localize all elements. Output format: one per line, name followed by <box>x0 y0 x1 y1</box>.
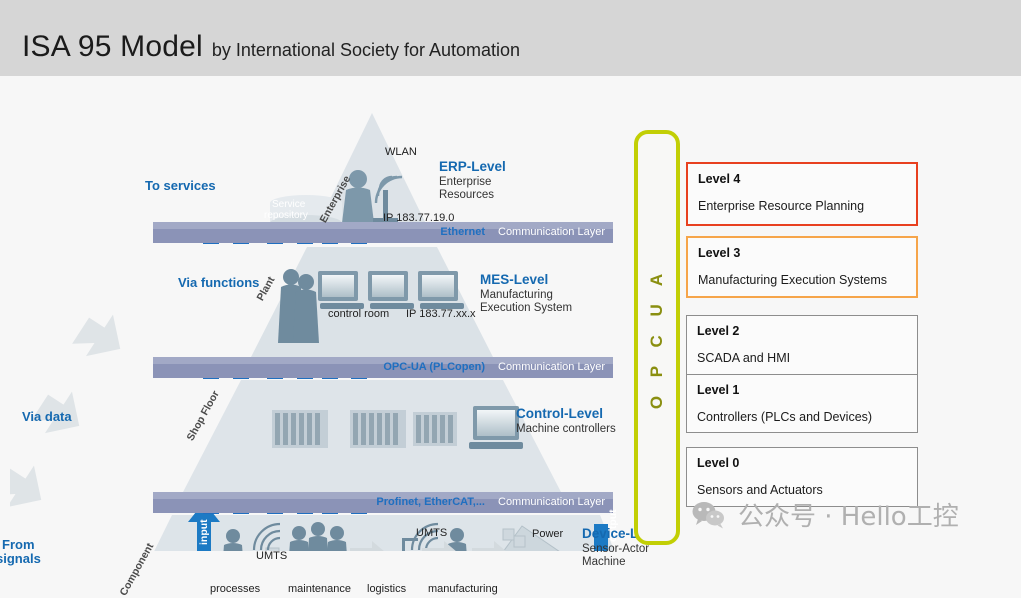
mes-people-shape <box>278 269 319 343</box>
station-label-processes: processes <box>210 583 260 595</box>
slide-body: Ethernet Communication Layer OPC-UA (PLC… <box>0 76 1021 564</box>
level-box-1-text: Controllers (PLCs and Devices) <box>697 410 907 424</box>
level-box-0-title: Level 0 <box>697 456 907 470</box>
opc-ua-vertical-bar: O P C U A <box>634 130 680 545</box>
input-arrow-label: input <box>198 519 210 545</box>
tier-desc-mes-line2: Execution System <box>480 302 572 315</box>
protocol-label-ethernet: Ethernet <box>440 226 485 238</box>
caption-to-services: To services <box>145 178 216 193</box>
mes-monitors-shape <box>318 271 464 309</box>
station-label-power: Power <box>532 528 563 540</box>
wlan-label: WLAN <box>385 146 417 158</box>
tier-desc-mes-line1: Manufacturing <box>480 289 553 302</box>
page-title: ISA 95 Model <box>22 30 203 64</box>
caption-from-signals-line2: signals <box>0 552 41 565</box>
tier-desc-device-line2: Machine <box>582 556 625 569</box>
erp-ip-address-label: IP 183.77.19.0 <box>383 212 454 224</box>
tier-desc-erp-line1: Enterprise <box>439 176 491 189</box>
tier-desc-device-line1: Sensor-Actor <box>582 543 649 556</box>
level-box-2[interactable]: Level 2 SCADA and HMI <box>686 315 918 374</box>
header-title-group: ISA 95 Model by International Society fo… <box>22 30 520 64</box>
level-box-1-title: Level 1 <box>697 383 907 397</box>
caption-from-signals-line1: From <box>2 538 35 551</box>
control-room-label: control room <box>328 308 389 320</box>
communication-layer-label: Communication Layer <box>498 226 605 238</box>
protocol-label-opcua: OPC-UA (PLCopen) <box>383 361 485 373</box>
station-label-maintenance: maintenance <box>288 583 351 595</box>
level-box-2-text: SCADA and HMI <box>697 351 907 365</box>
caption-via-data: Via data <box>22 409 72 424</box>
level-box-1[interactable]: Level 1 Controllers (PLCs and Devices) <box>686 374 918 433</box>
page-subtitle: by International Society for Automation <box>212 40 520 61</box>
level-box-3-title: Level 3 <box>698 246 906 260</box>
tier-title-control: Control-Level <box>516 406 603 421</box>
tier-desc-erp-line2: Resources <box>439 189 494 202</box>
page-header: ISA 95 Model by International Society fo… <box>0 0 1021 76</box>
level-box-4-title: Level 4 <box>698 172 906 186</box>
umts-label-maintenance: UMTS <box>256 550 287 562</box>
umts-label-manufacturing: UMTS <box>416 527 447 539</box>
tier-title-mes: MES-Level <box>480 272 548 287</box>
isa95-pyramid-diagram: Ethernet Communication Layer OPC-UA (PLC… <box>10 86 630 551</box>
caption-via-functions: Via functions <box>178 275 259 290</box>
plc-racks-shape <box>272 410 457 448</box>
communication-layer-label: Communication Layer <box>498 496 605 508</box>
wechat-icon <box>692 501 726 529</box>
communication-layer-label: Communication Layer <box>498 361 605 373</box>
control-computer-shape <box>469 406 523 449</box>
level-box-3[interactable]: Level 3 Manufacturing Execution Systems <box>686 236 918 298</box>
communication-layer-opcua: OPC-UA (PLCopen) Communication Layer <box>153 357 613 378</box>
watermark-text: 公众号 · Hello工控 <box>738 496 959 533</box>
service-repository-label-line2: repository <box>264 210 308 221</box>
level-box-4[interactable]: Level 4 Enterprise Resource Planning <box>686 162 918 226</box>
level-box-4-text: Enterprise Resource Planning <box>698 199 906 213</box>
level-box-0-text: Sensors and Actuators <box>697 483 907 497</box>
service-repository-label-line1: Service <box>272 199 305 210</box>
tier-title-erp: ERP-Level <box>439 159 506 174</box>
station-label-logistics: logistics <box>367 583 406 595</box>
protocol-label-fieldbus: Profinet, EtherCAT,... <box>376 496 485 508</box>
communication-layer-ethernet: Ethernet Communication Layer <box>153 222 613 243</box>
level-box-3-text: Manufacturing Execution Systems <box>698 273 906 287</box>
opc-ua-label: O P C U A <box>647 266 667 408</box>
watermark: 公众号 · Hello工控 <box>692 496 959 533</box>
mes-ip-address-label: IP 183.77.xx.x <box>406 308 476 320</box>
level-box-2-title: Level 2 <box>697 324 907 338</box>
pyramid-shapes <box>10 86 630 551</box>
tier-desc-control-line1: Machine controllers <box>516 423 616 436</box>
communication-layer-fieldbus: Profinet, EtherCAT,... Communication Lay… <box>153 492 613 513</box>
station-label-manufacturing: manufacturing <box>428 583 498 595</box>
